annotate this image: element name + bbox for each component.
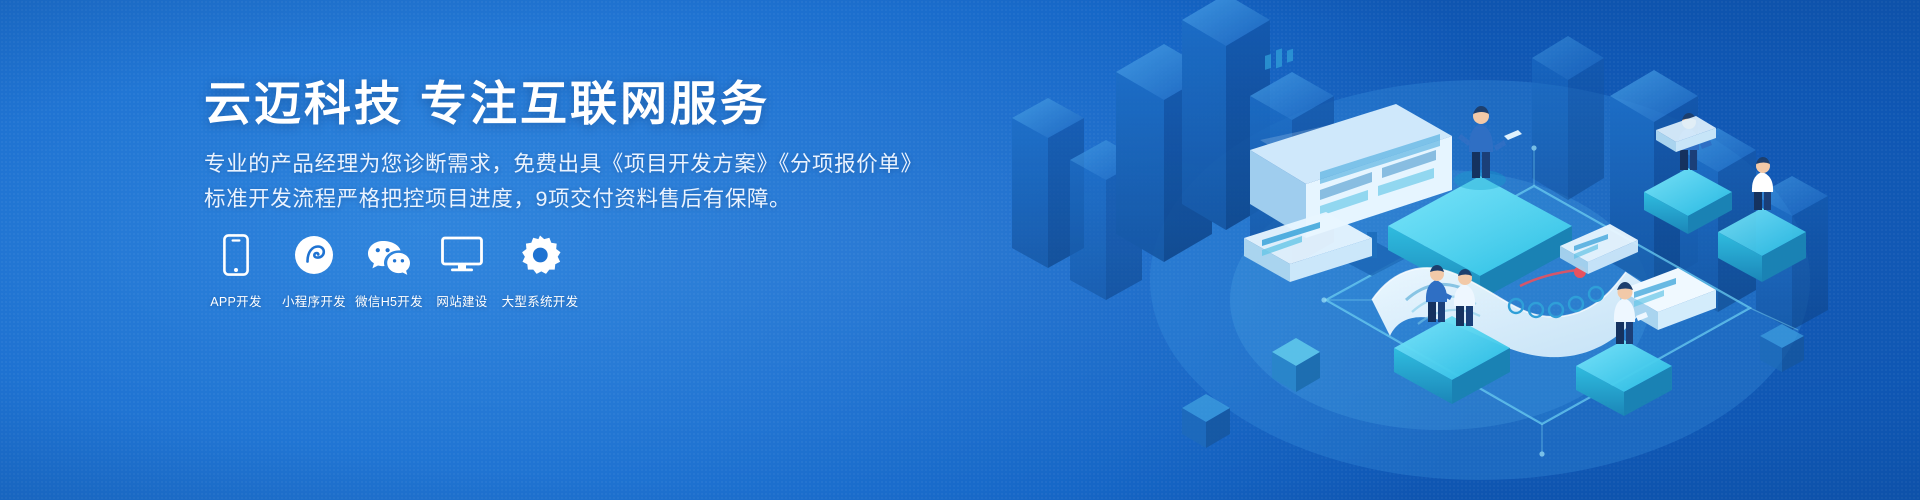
isometric-illustration [920, 0, 1920, 500]
service-label-website: 网站建设 [436, 291, 487, 310]
mini-program-icon [294, 232, 334, 278]
wechat-icon [366, 232, 412, 278]
service-item-website[interactable]: 网站建设 [426, 232, 498, 310]
banner-subtitle: 专业的产品经理为您诊断需求，免费出具《项目开发方案》《分项报价单》 标准开发流程… [204, 146, 923, 216]
service-list: APP开发 小程序开发 [200, 232, 577, 310]
monitor-icon [441, 232, 483, 278]
banner-content: 云迈科技 专注互联网服务 专业的产品经理为您诊断需求，免费出具《项目开发方案》《… [0, 0, 960, 500]
service-item-app[interactable]: APP开发 [200, 232, 272, 310]
service-label-mini-program: 小程序开发 [282, 291, 346, 310]
service-item-mini-program[interactable]: 小程序开发 [278, 232, 350, 310]
subtitle-line-1: 专业的产品经理为您诊断需求，免费出具《项目开发方案》《分项报价单》 [204, 146, 923, 181]
gear-icon [519, 232, 561, 278]
service-label-wechat: 微信H5开发 [355, 291, 423, 310]
service-label-system: 大型系统开发 [502, 291, 579, 310]
promo-banner: 云迈科技 专注互联网服务 专业的产品经理为您诊断需求，免费出具《项目开发方案》《… [0, 0, 1920, 500]
subtitle-line-2: 标准开发流程严格把控项目进度，9项交付资料售后有保障。 [204, 181, 923, 216]
mobile-phone-icon [223, 232, 249, 278]
service-item-wechat[interactable]: 微信H5开发 [353, 232, 425, 310]
service-item-system[interactable]: 大型系统开发 [504, 232, 576, 310]
page-title: 云迈科技 专注互联网服务 [204, 76, 770, 131]
service-label-app: APP开发 [210, 291, 262, 310]
